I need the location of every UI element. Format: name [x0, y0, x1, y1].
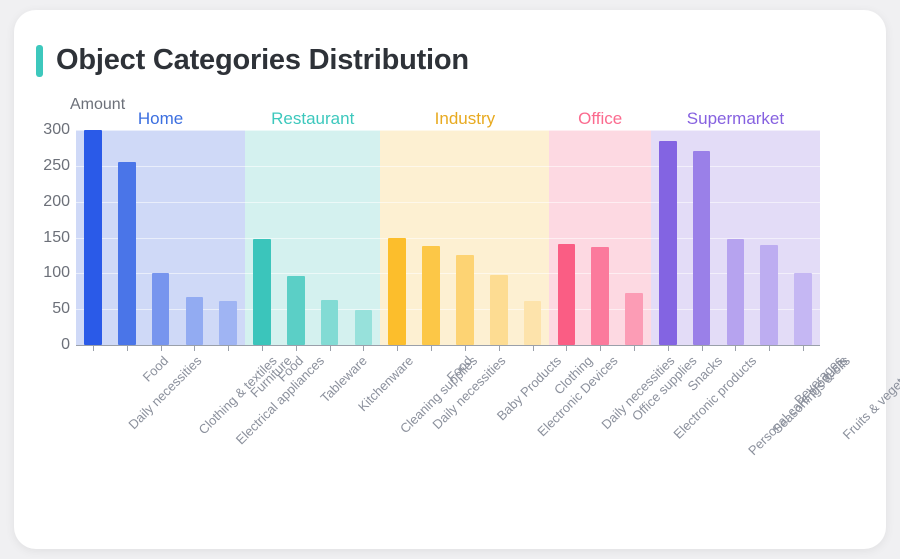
y-tick-label: 200	[43, 193, 70, 211]
x-tick-mark	[566, 346, 567, 351]
x-tick-mark	[431, 346, 432, 351]
y-axis-ticks: 050100150200250300	[28, 10, 70, 549]
x-tick-mark	[634, 346, 635, 351]
bar[interactable]	[152, 273, 170, 345]
bar[interactable]	[186, 297, 204, 345]
x-tick-mark	[262, 346, 263, 351]
gridline	[245, 130, 380, 131]
x-tick-mark	[803, 346, 804, 351]
bar[interactable]	[253, 239, 271, 345]
group-label-home: Home	[138, 109, 183, 129]
x-tick-mark	[600, 346, 601, 351]
group-label-industry: Industry	[435, 109, 495, 129]
x-tick-mark	[194, 346, 195, 351]
bar[interactable]	[727, 239, 745, 345]
bar[interactable]	[693, 151, 711, 345]
y-tick-label: 300	[43, 121, 70, 139]
gridline	[549, 238, 650, 239]
x-tick-mark	[465, 346, 466, 351]
gridline	[245, 166, 380, 167]
bar[interactable]	[118, 162, 136, 345]
bar[interactable]	[388, 238, 406, 346]
bar[interactable]	[490, 275, 508, 345]
bar[interactable]	[355, 310, 373, 345]
y-tick-label: 50	[52, 300, 70, 318]
gridline	[549, 166, 650, 167]
gridline	[380, 202, 549, 203]
group-label-restaurant: Restaurant	[271, 109, 354, 129]
bar[interactable]	[558, 244, 576, 345]
bar[interactable]	[659, 141, 677, 345]
x-tick-mark	[769, 346, 770, 351]
bar[interactable]	[422, 246, 440, 345]
bar[interactable]	[219, 301, 237, 345]
chart-card: Object Categories Distribution Amount 05…	[14, 10, 886, 549]
gridline	[651, 130, 820, 131]
bar[interactable]	[321, 300, 339, 345]
x-tick-mark	[296, 346, 297, 351]
group-label-supermarket: Supermarket	[687, 109, 784, 129]
x-axis-line	[76, 345, 820, 346]
y-tick-label: 100	[43, 264, 70, 282]
y-tick-label: 250	[43, 157, 70, 175]
x-tick-mark	[228, 346, 229, 351]
x-tick-mark	[735, 346, 736, 351]
x-tick-mark	[127, 346, 128, 351]
gridline	[549, 130, 650, 131]
gridline	[549, 202, 650, 203]
y-tick-label: 0	[61, 336, 70, 354]
x-tick-label: Clothing & textiles	[195, 353, 279, 437]
group-label-office: Office	[578, 109, 622, 129]
x-tick-mark	[330, 346, 331, 351]
bar[interactable]	[625, 293, 643, 345]
x-tick-mark	[702, 346, 703, 351]
x-tick-mark	[161, 346, 162, 351]
gridline	[380, 130, 549, 131]
x-tick-mark	[363, 346, 364, 351]
bar[interactable]	[524, 301, 542, 345]
x-tick-label: Beverages	[791, 353, 846, 408]
x-tick-mark	[499, 346, 500, 351]
x-tick-mark	[668, 346, 669, 351]
gridline	[380, 166, 549, 167]
plot-area	[76, 130, 820, 345]
x-tick-mark	[93, 346, 94, 351]
bar[interactable]	[794, 273, 812, 345]
bar-chart: Amount 050100150200250300 HomeRestaurant…	[14, 10, 886, 549]
y-tick-label: 150	[43, 229, 70, 247]
y-axis-title: Amount	[70, 96, 125, 114]
bar[interactable]	[591, 247, 609, 345]
bar[interactable]	[456, 255, 474, 345]
x-tick-mark	[533, 346, 534, 351]
bar[interactable]	[287, 276, 305, 345]
bar[interactable]	[84, 130, 102, 345]
gridline	[245, 202, 380, 203]
x-tick-mark	[397, 346, 398, 351]
bar[interactable]	[760, 245, 778, 345]
